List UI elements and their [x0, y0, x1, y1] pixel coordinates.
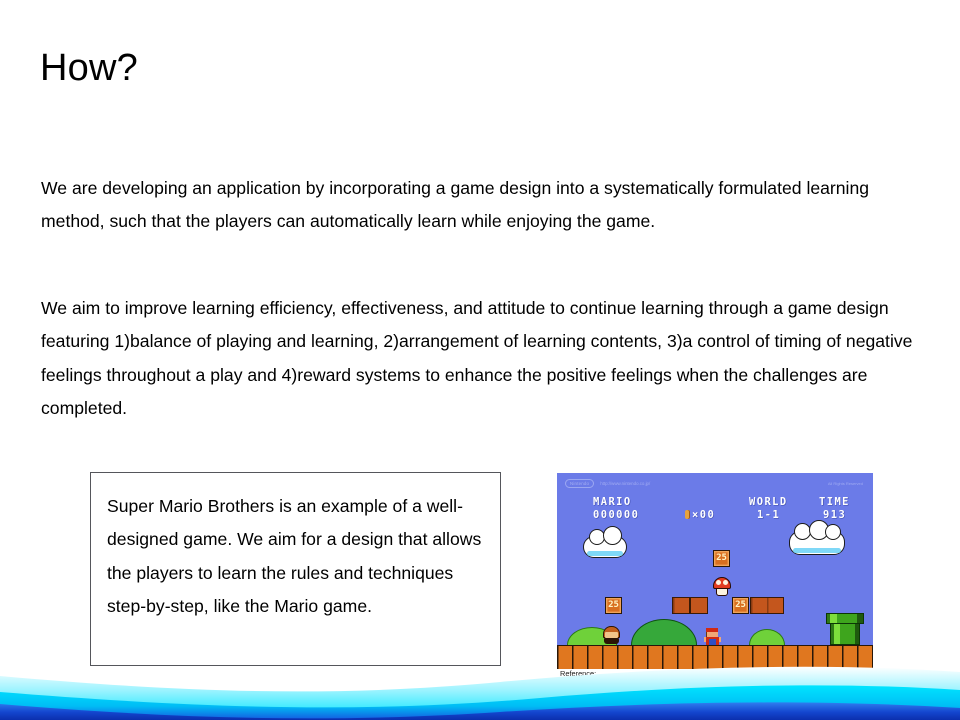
- reference-label: Reference:: [560, 669, 740, 680]
- hud-coin-row: ×00: [685, 508, 715, 522]
- hud-time-label: TIME: [819, 495, 850, 509]
- slide-canvas: How? We are developing an application by…: [0, 0, 960, 720]
- question-block-icon: 25: [713, 550, 730, 567]
- goomba-feet: [604, 638, 619, 644]
- watermark-right-note: All Rights Reserved: [828, 481, 863, 486]
- hud-world-label: WORLD: [749, 495, 788, 509]
- goomba-enemy-icon: [603, 626, 620, 644]
- body-paragraph-2: We aim to improve learning efficiency, e…: [41, 292, 927, 426]
- question-block-icon: 25: [605, 597, 622, 614]
- mushroom-powerup-icon: [713, 577, 731, 596]
- hill-shape: [631, 619, 697, 645]
- page-title: How?: [40, 48, 138, 90]
- used-block-icon: [690, 597, 708, 614]
- wave-layer-bottom: [0, 702, 960, 720]
- cloud-puff: [825, 524, 841, 540]
- cloud-puff: [603, 526, 622, 545]
- hud-coin-count: ×00: [692, 509, 715, 521]
- body-paragraph-1: We are developing an application by inco…: [41, 172, 927, 239]
- nintendo-logo-icon: Nintendo: [565, 479, 594, 488]
- warp-pipe-icon: [826, 613, 864, 645]
- hud-player-label: MARIO: [593, 495, 632, 509]
- nintendo-url-text: http://www.nintendo.co.jp/: [600, 481, 650, 486]
- hud-score-value: 000000: [593, 508, 639, 522]
- brick-wall-right: [750, 597, 784, 614]
- coin-icon: [685, 510, 690, 519]
- callout-box: Super Mario Brothers is an example of a …: [90, 472, 501, 666]
- brick-wall-left: [672, 597, 690, 614]
- hud-time-value: 913: [823, 508, 846, 522]
- wave-layer-mid: [0, 685, 960, 720]
- reference-url[interactable]: http://themushroomkingdom.net/media/smas…: [560, 680, 740, 691]
- ground-tiles: [557, 645, 873, 669]
- cloud-icon-right: [789, 531, 845, 555]
- figure-reference-caption: Reference: http://themushroomkingdom.net…: [560, 669, 740, 690]
- cloud-icon-left: [583, 536, 627, 558]
- question-block-icon: 25: [732, 597, 749, 614]
- mushroom-stem: [716, 588, 728, 596]
- bush-shape-right: [749, 629, 785, 645]
- hud-world-value: 1-1: [757, 508, 780, 522]
- mario-game-screen: Nintendo http://www.nintendo.co.jp/ All …: [557, 473, 873, 669]
- callout-text: Super Mario Brothers is an example of a …: [107, 490, 492, 623]
- pipe-lip: [826, 613, 864, 624]
- pipe-body: [830, 624, 860, 645]
- mario-game-figure: Nintendo http://www.nintendo.co.jp/ All …: [557, 473, 873, 669]
- wave-layer-top: [0, 667, 960, 720]
- nintendo-watermark-bar: Nintendo http://www.nintendo.co.jp/ All …: [557, 473, 873, 494]
